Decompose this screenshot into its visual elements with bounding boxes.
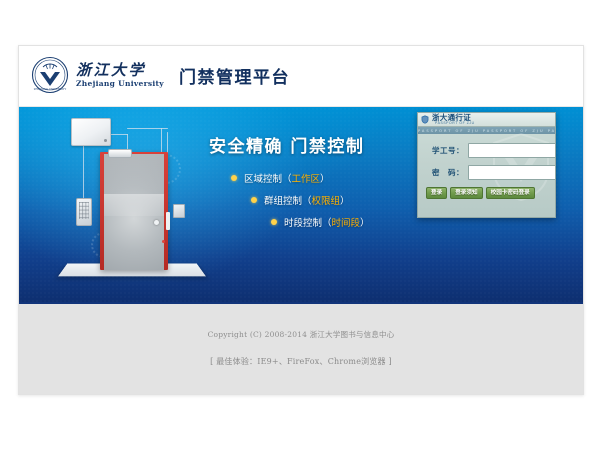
banner-slogan: 安全精确 门禁控制: [209, 132, 419, 157]
shield-icon: [421, 115, 429, 124]
feature-label: 时段控制（: [284, 215, 332, 229]
feature-item-group-control: 群组控制（权限组）: [251, 193, 419, 207]
bullet-dot-icon: [251, 197, 257, 203]
feature-tail: ）: [360, 215, 370, 229]
door-knob-icon: [154, 220, 159, 225]
access-control-door-illustration: [55, 112, 205, 292]
door-panel: [104, 154, 164, 270]
red-door-frame: [100, 152, 168, 270]
card-reader-icon: [173, 204, 185, 218]
student-staff-id-input[interactable]: [468, 143, 556, 158]
campus-card-login-button[interactable]: 校园卡密码登录: [486, 187, 535, 199]
page-card: ZHEJIANG UNIVERSITY 浙江大学 Zhejiang Univer…: [18, 45, 584, 395]
status-led-icon: [162, 240, 165, 243]
banner-copy: 安全精确 门禁控制 区域控制（工作区） 群组控制（权限组） 时段控制（时间段）: [209, 132, 419, 237]
feature-item-time-control: 时段控制（时间段）: [271, 215, 419, 229]
feature-label: 区域控制（: [244, 171, 292, 185]
password-input[interactable]: [468, 165, 556, 180]
site-footer: Copyright (C) 2008-2014 浙江大学图书与信息中心 [ 最佳…: [19, 302, 583, 395]
keypad-grid: [79, 202, 89, 219]
page-title: 门禁管理平台: [179, 63, 290, 88]
logo-chinese-name: 浙江大学: [76, 63, 164, 78]
bullet-dot-icon: [271, 219, 277, 225]
control-box-icon: [71, 118, 111, 146]
feature-list: 区域控制（工作区） 群组控制（权限组） 时段控制（时间段）: [209, 171, 419, 229]
feature-label: 群组控制（: [264, 193, 312, 207]
login-button-row: 登录 登录须知 校园卡密码登录: [424, 187, 549, 199]
zju-seal-icon: ZHEJIANG UNIVERSITY: [31, 56, 69, 94]
password-label: 密 码：: [424, 167, 464, 178]
feature-item-area-control: 区域控制（工作区）: [231, 171, 419, 185]
copyright-text: Copyright (C) 2008-2014 浙江大学图书与信息中心: [19, 304, 583, 340]
browser-recommendation-text: [ 最佳体验：IE9+、FireFox、Chrome浏览器 ]: [19, 340, 583, 367]
field-row-password: 密 码：: [424, 165, 549, 180]
login-panel: 浙大通行证 PASSPORT OF ZJU PASSPORT OF ZJU PA…: [417, 112, 556, 218]
feature-tail: ）: [340, 193, 350, 207]
feature-highlight: 工作区: [292, 171, 321, 185]
feature-tail: ）: [320, 171, 330, 185]
feature-highlight: 权限组: [312, 193, 341, 207]
hero-banner: 安全精确 门禁控制 区域控制（工作区） 群组控制（权限组） 时段控制（时间段）: [19, 107, 583, 302]
keypad-reader-icon: [76, 198, 92, 226]
svg-text:ZHEJIANG UNIVERSITY: ZHEJIANG UNIVERSITY: [34, 87, 67, 91]
login-panel-subtitle: PASSPORT OF ZJU: [435, 121, 475, 125]
door-edge-strip: [166, 212, 170, 230]
login-notice-button[interactable]: 登录须知: [450, 187, 482, 199]
logo-english-name: Zhejiang University: [76, 80, 164, 88]
door-closer-icon: [108, 149, 132, 158]
feature-highlight: 时间段: [332, 215, 361, 229]
university-logo[interactable]: ZHEJIANG UNIVERSITY 浙江大学 Zhejiang Univer…: [31, 56, 164, 94]
student-staff-id-label: 学工号：: [424, 145, 464, 156]
login-button[interactable]: 登录: [426, 187, 447, 199]
field-row-id: 学工号：: [424, 143, 549, 158]
door-highlight-band: [104, 194, 164, 216]
wire-segment: [108, 134, 128, 135]
site-header: ZHEJIANG UNIVERSITY 浙江大学 Zhejiang Univer…: [19, 46, 583, 107]
bullet-dot-icon: [231, 175, 237, 181]
login-form: 学工号： 密 码： 登录 登录须知 校园卡密码登录: [418, 134, 555, 199]
wire-segment: [83, 144, 84, 198]
login-panel-titlebar: 浙大通行证 PASSPORT OF ZJU: [418, 113, 555, 127]
